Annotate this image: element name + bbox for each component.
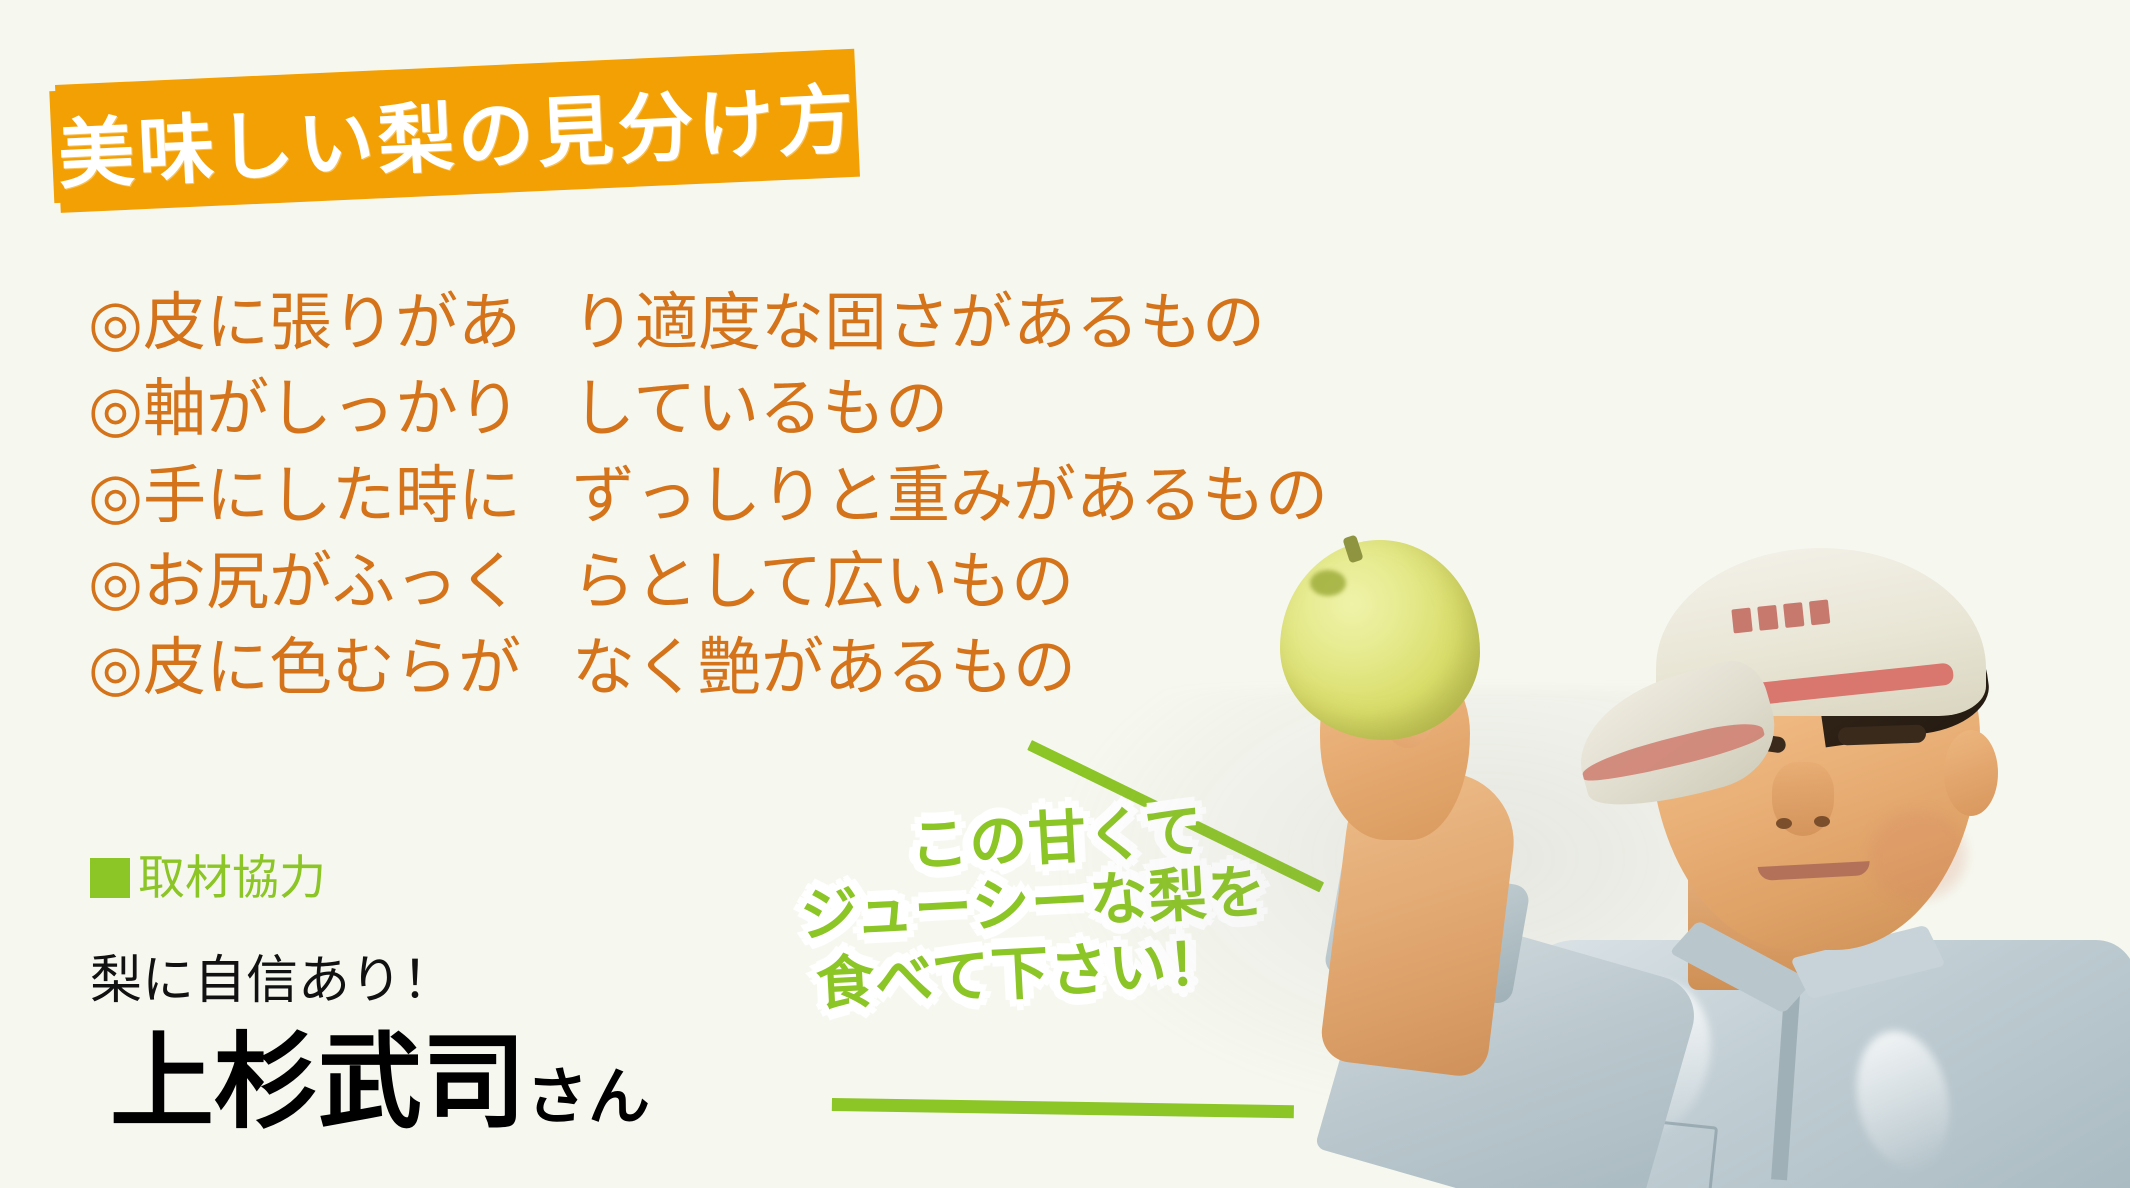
person-name-suffix: さん (526, 1063, 650, 1132)
credit-block: 取材協力 梨に自信あり！ 上杉武司さん (90, 852, 850, 1138)
cheek-blush (1870, 810, 1966, 900)
criteria-left-3: ◎お尻がふっく (88, 539, 558, 625)
ear (1944, 730, 1998, 816)
criteria-right-1: しているもの (558, 366, 948, 452)
list-item: ◎軸がしっかり しているもの (88, 366, 1388, 452)
list-item: ◎皮に張りがあ り適度な固さがあるもの (88, 280, 1388, 366)
poster-root: 美味しい梨の見分け方 ◎皮に張りがあ り適度な固さがあるもの ◎軸がしっかり し… (0, 0, 2130, 1188)
credit-section-heading: 取材協力 (90, 852, 850, 904)
criteria-left-1: ◎軸がしっかり (88, 366, 558, 452)
criteria-list: ◎皮に張りがあ り適度な固さがあるもの ◎軸がしっかり しているもの ◎手にした… (88, 280, 1388, 711)
criteria-right-2: ずっしりと重みがあるもの (558, 453, 1328, 539)
criteria-left-4: ◎皮に色むらが (88, 625, 558, 711)
criteria-right-4: なく艶があるもの (558, 625, 1076, 711)
nostril-right (1814, 816, 1830, 827)
person-name-text: 上杉武司 (110, 1025, 526, 1141)
square-bullet-icon (90, 858, 130, 898)
credit-tagline: 梨に自信あり！ (90, 938, 850, 1013)
criteria-left-2: ◎手にした時に (88, 453, 558, 539)
eye-right (1838, 724, 1927, 745)
list-item: ◎お尻がふっく らとして広いもの (88, 539, 1388, 625)
credit-person-name: 上杉武司さん (110, 1029, 850, 1138)
credit-section-label: 取材協力 (138, 852, 326, 904)
list-item: ◎手にした時に ずっしりと重みがあるもの (88, 453, 1388, 539)
pear-fruit (1280, 540, 1480, 740)
criteria-left-0: ◎皮に張りがあ (88, 280, 558, 366)
producer-photo (1258, 440, 2130, 1188)
nostril-left (1776, 818, 1792, 829)
criteria-right-0: り適度な固さがあるもの (558, 280, 1265, 366)
pear-blemish (1310, 570, 1346, 596)
criteria-right-3: らとして広いもの (558, 539, 1074, 625)
page-title: 美味しい梨の見分け方 (55, 49, 860, 213)
